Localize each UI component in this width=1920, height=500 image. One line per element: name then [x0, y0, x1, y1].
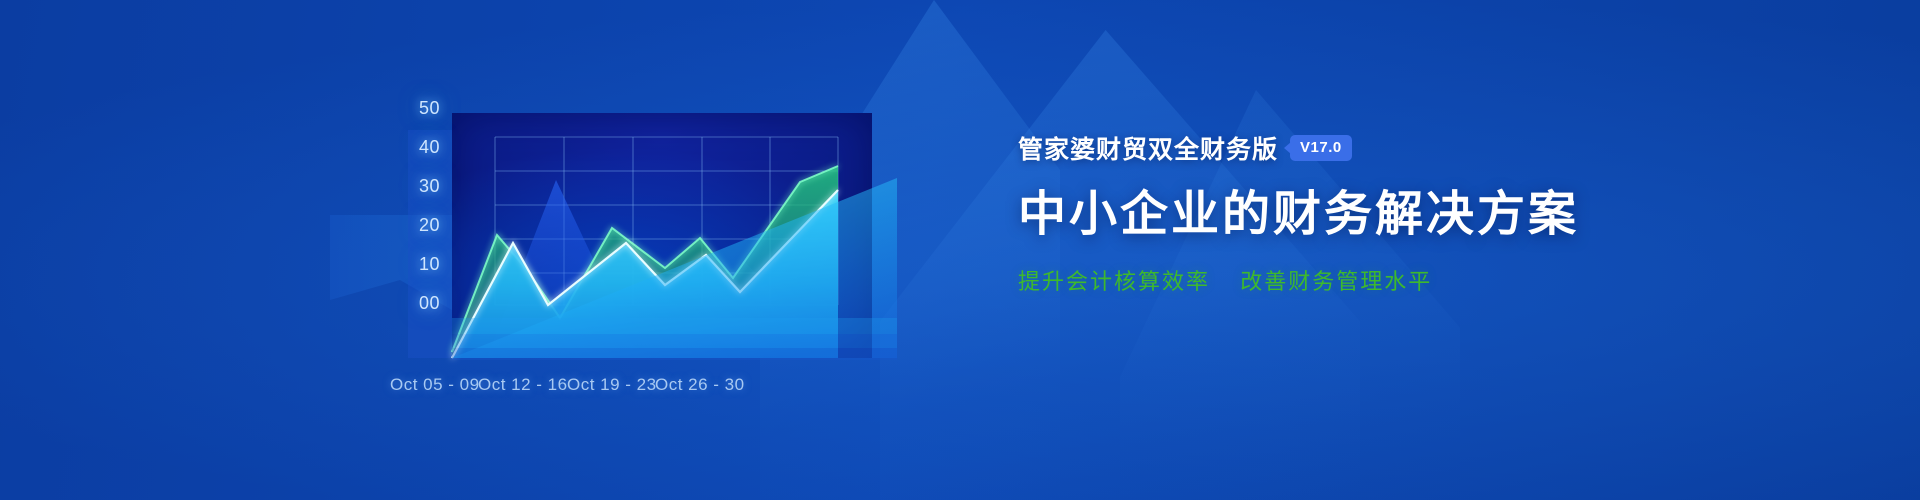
- chart-illustration: 50 40 30 20 10 00 Oct 05 - 09 Oct 12 - 1…: [0, 0, 1000, 440]
- chart-y-axis: 50 40 30 20 10 00: [380, 90, 440, 320]
- x-tick-4: Oct 26 - 30: [655, 375, 745, 395]
- y-tick-30: 30: [419, 176, 440, 197]
- y-tick-00: 00: [419, 293, 440, 314]
- x-tick-3: Oct 19 - 23: [567, 375, 657, 395]
- headline: 中小企业的财务解决方案: [1018, 188, 1778, 242]
- version-badge: V17.0: [1290, 135, 1352, 161]
- promo-banner: 50 40 30 20 10 00 Oct 05 - 09 Oct 12 - 1…: [0, 0, 1920, 500]
- y-tick-50: 50: [419, 98, 440, 119]
- brand-title: 管家婆财贸双全财务版: [1018, 130, 1278, 166]
- y-tick-10: 10: [419, 254, 440, 275]
- subline: 提升会计核算效率 改善财务管理水平: [1018, 264, 1778, 296]
- brand-line: 管家婆财贸双全财务版 V17.0: [1018, 130, 1778, 166]
- x-tick-2: Oct 12 - 16: [478, 375, 568, 395]
- subline-part-1: 提升会计核算效率: [1018, 269, 1210, 294]
- decor-base-bands: [452, 318, 897, 360]
- subline-part-2: 改善财务管理水平: [1240, 269, 1432, 294]
- y-tick-40: 40: [419, 137, 440, 158]
- promo-copy: 管家婆财贸双全财务版 V17.0 中小企业的财务解决方案 提升会计核算效率 改善…: [1018, 130, 1778, 296]
- chart-svg: [0, 0, 1000, 440]
- x-tick-1: Oct 05 - 09: [390, 375, 480, 395]
- y-tick-20: 20: [419, 215, 440, 236]
